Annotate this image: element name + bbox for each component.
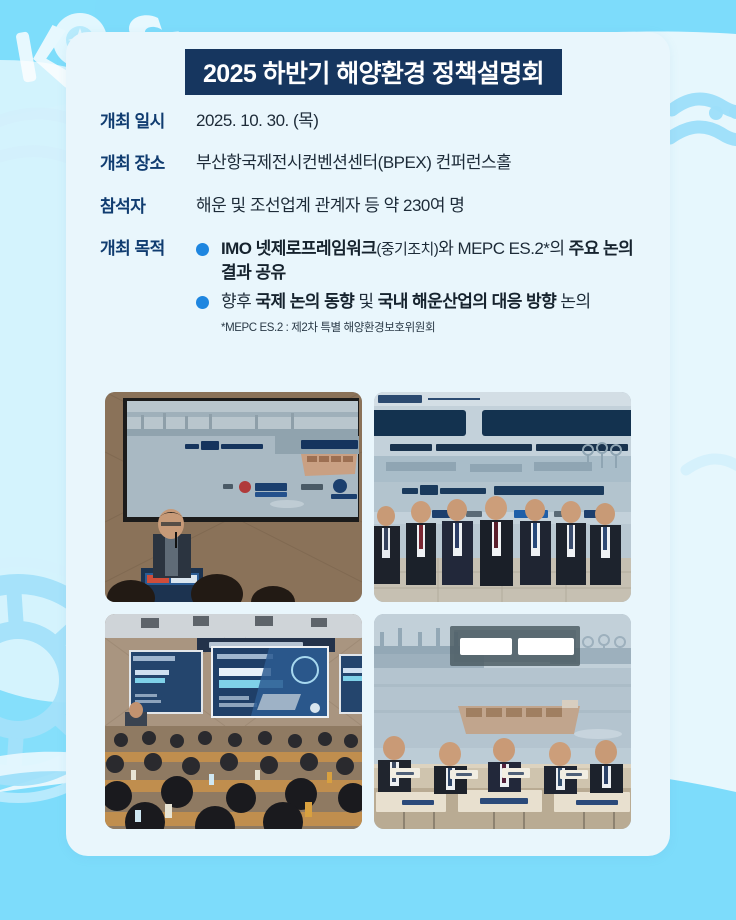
title-banner: 2025 하반기 해양환경 정책설명회 [185,49,562,95]
photo-audience-hall[interactable] [105,614,362,829]
event-info-list: 개최 일시 2025. 10. 30. (목) 개최 장소 부산항국제전시컨벤션… [100,110,640,335]
info-label-purpose: 개최 목적 [100,237,196,259]
photo-qna-panel[interactable]: 질의응답 (Q&A) [374,614,631,829]
purpose-footnote: *MEPC ES.2 : 제2차 특별 해양환경보호위원회 [221,319,640,335]
purpose-bullet-1-text: IMO 넷제로프레임워크(중기조치)와 MEPC ES.2*의 주요 논의 결과… [221,237,640,285]
info-label-attendees: 참석자 [100,195,196,217]
page-title: 2025 하반기 해양환경 정책설명회 [203,54,544,90]
info-value-venue: 부산항국제전시컨벤션센터(BPEX) 컨퍼런스홀 [196,152,640,174]
info-value-attendees: 해운 및 조선업계 관계자 등 약 230여 명 [196,195,640,217]
bullet-dot-icon [196,243,209,256]
purpose-bullet-list: IMO 넷제로프레임워크(중기조치)와 MEPC ES.2*의 주요 논의 결과… [196,237,640,335]
info-row-attendees: 참석자 해운 및 조선업계 관계자 등 약 230여 명 [100,195,640,217]
info-label-venue: 개최 장소 [100,152,196,174]
purpose-bullet-2-text: 향후 국제 논의 동향 및 국내 해운산업의 대응 방향 논의 [221,290,640,314]
info-value-date: 2025. 10. 30. (목) [196,110,640,132]
bullet-dot-icon [196,296,209,309]
info-row-purpose: 개최 목적 IMO 넷제로프레임워크(중기조치)와 MEPC ES.2*의 주요… [100,237,640,335]
info-label-date: 개최 일시 [100,110,196,132]
info-row-venue: 개최 장소 부산항국제전시컨벤션센터(BPEX) 컨퍼런스홀 [100,152,640,174]
photo-group-photo[interactable] [374,392,631,602]
info-row-date: 개최 일시 2025. 10. 30. (목) [100,110,640,132]
list-item: IMO 넷제로프레임워크(중기조치)와 MEPC ES.2*의 주요 논의 결과… [196,237,640,285]
list-item: 향후 국제 논의 동향 및 국내 해운산업의 대응 방향 논의 [196,290,640,314]
photo-keynote-speaker[interactable] [105,392,362,602]
event-summary-card: 2025 하반기 해양환경 정책설명회 개최 일시 2025. 10. 30. … [66,32,670,856]
photo-grid: 질의응답 (Q&A) [105,392,631,829]
